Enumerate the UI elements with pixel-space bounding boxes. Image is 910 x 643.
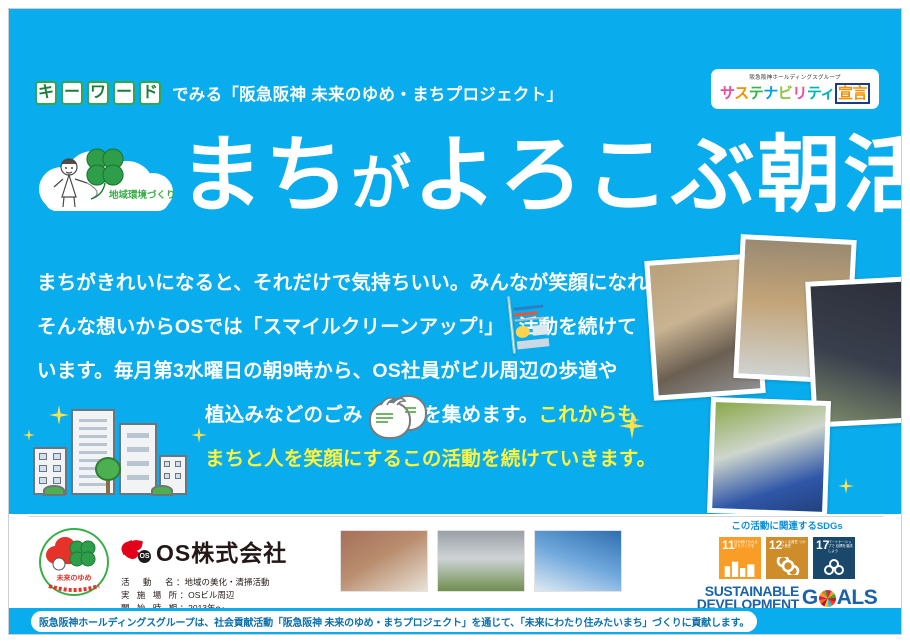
photo-thumbnail-strip — [340, 530, 622, 592]
body-line-4b: を集めます。 — [422, 393, 538, 437]
keyword-box: ー — [61, 81, 83, 105]
sdgs-title: この活動に関連するSDGs — [687, 518, 887, 532]
clover-girl-icon — [35, 145, 175, 211]
trash-bag-icon — [367, 393, 419, 437]
partnership-circles-icon — [814, 558, 854, 576]
detail-row: 活 動 名：地域の美化・清掃活動 — [121, 576, 287, 589]
sdg-goal-12: 12 つくる責任 つかう責任 — [766, 537, 808, 579]
detail-label: 実 施 場 所 — [121, 590, 180, 600]
cloud-badge-label: 地域環境づくり — [109, 187, 176, 201]
keyword-box: ー — [113, 81, 135, 105]
page-title: まちがよろこぶ朝活 — [179, 133, 901, 217]
sdgs-section: この活動に関連するSDGs 11 住み続けられる まちづくりを 12 つくる責任… — [687, 518, 887, 620]
goals-g: G — [802, 586, 818, 610]
keyword-line: キ ー ワ ー ド でみる「阪急阪神 未来のゆめ・まちプロジェクト」 — [35, 81, 563, 105]
sdg-caption: つくる責任 つかう責任 — [781, 540, 806, 549]
sparkle-icon — [838, 478, 854, 494]
body-line-2a: そんな想いからOSでは「スマイルクリーンアップ!」 — [37, 305, 504, 349]
sdg-wordmark-goals: G ALS — [802, 586, 877, 610]
sustainability-declaration: 宣言 — [835, 83, 870, 104]
company-block: OS OS株式会社 活 動 名：地域の美化・清掃活動 実 施 場 所：OSビル周… — [121, 534, 287, 615]
svg-text:未来のゆめ: 未来のゆめ — [57, 573, 92, 582]
body-line-1: まちがきれいになると、それだけで気持ちいい。みんなが笑顔になれる。 — [37, 261, 637, 305]
thumbnail-os-building — [534, 530, 622, 592]
bottom-bar-text: 阪急阪神ホールディングスグループは、社会貢献活動「阪急阪神 未来のゆめ・まちプロ… — [31, 611, 757, 632]
company-logo: OS OS株式会社 — [121, 534, 287, 568]
photo-cutout-worker-blue-jacket — [707, 397, 831, 514]
body-line-4-highlight: これからも — [538, 393, 637, 437]
sdg-number: 11 — [722, 539, 735, 551]
hero-panel: キ ー ワ ー ド でみる「阪急阪神 未来のゆめ・まちプロジェクト」 阪急阪神ホ… — [9, 9, 901, 514]
sus-char: サ — [720, 85, 734, 102]
sus-char: リ — [792, 85, 807, 102]
infinity-icon — [767, 557, 807, 575]
footer-panel: 未来のゆめ OS OS株式会社 活 動 名：地域の美化・清掃活動 実 施 場 所… — [9, 516, 901, 608]
thumbnail-cleanup-supplies — [340, 530, 428, 592]
poster-root: キ ー ワ ー ド でみる「阪急阪神 未来のゆめ・まちプロジェクト」 阪急阪神ホ… — [0, 0, 910, 643]
sus-char: ティ — [807, 85, 835, 102]
headline-part: まち — [179, 128, 351, 222]
sustainability-wordmark: サステナビリティ宣言 — [720, 82, 870, 103]
headline-part-small: が — [351, 150, 413, 217]
bottom-bar: 阪急阪神ホールディングスグループは、社会貢献活動「阪急阪神 未来のゆめ・まちプロ… — [9, 608, 901, 634]
city-buildings-icon — [720, 559, 760, 577]
sustainability-badge: 阪急阪神ホールディングスグループ サステナビリティ宣言 — [711, 69, 879, 109]
keyword-box: ド — [139, 81, 161, 105]
sdg-icon-row: 11 住み続けられる まちづくりを 12 つくる責任 つかう責任 17 — [687, 537, 887, 579]
sdg-caption: パートナーシップで 目標を達成しよう — [828, 540, 853, 553]
body-line-2: そんな想いからOSでは「スマイルクリーンアップ!」 活動を続けて — [37, 305, 637, 349]
keyword-tail-text: でみる「阪急阪神 未来のゆめ・まちプロジェクト」 — [172, 81, 563, 105]
sus-char: ナ — [763, 85, 778, 102]
sdg-goal-17: 17 パートナーシップで 目標を達成しよう — [813, 537, 855, 579]
footer-divider — [29, 516, 883, 517]
detail-row: 実 施 場 所：OSビル周辺 — [121, 589, 287, 602]
goals-als: ALS — [837, 586, 878, 610]
cloud-badge: 地域環境づくり — [35, 145, 175, 211]
body-line-4a: 植込みなどのごみ — [205, 393, 363, 437]
body-line-3: います。毎月第3水曜日の朝9時から、OS社員がビル周辺の歩道や — [37, 349, 637, 393]
os-badge-label: OS — [138, 550, 151, 563]
os-flower-icon: OS — [121, 540, 149, 562]
sus-char: ビ — [778, 85, 793, 102]
thumbnail-employee-cleaning — [437, 530, 525, 592]
sus-char: テ — [749, 85, 764, 102]
company-name: OS株式会社 — [156, 534, 287, 568]
project-mascot-logo: 未来のゆめ — [39, 528, 109, 596]
detail-value: OSビル周辺 — [188, 590, 234, 600]
detail-value: 地域の美化・清掃活動 — [185, 577, 270, 587]
detail-label: 活 動 名 — [121, 577, 176, 587]
sdg-color-wheel-icon — [819, 590, 836, 607]
sdg-goal-11: 11 住み続けられる まちづくりを — [719, 537, 761, 579]
headline-part: よろこぶ朝活 — [413, 128, 901, 222]
sus-char: ス — [734, 85, 749, 102]
keyword-box: ワ — [87, 81, 109, 105]
sdg-caption: 住み続けられる まちづくりを — [734, 540, 759, 549]
keyword-box: キ — [35, 81, 57, 105]
sustainability-group-name: 阪急阪神ホールディングスグループ — [749, 74, 840, 81]
